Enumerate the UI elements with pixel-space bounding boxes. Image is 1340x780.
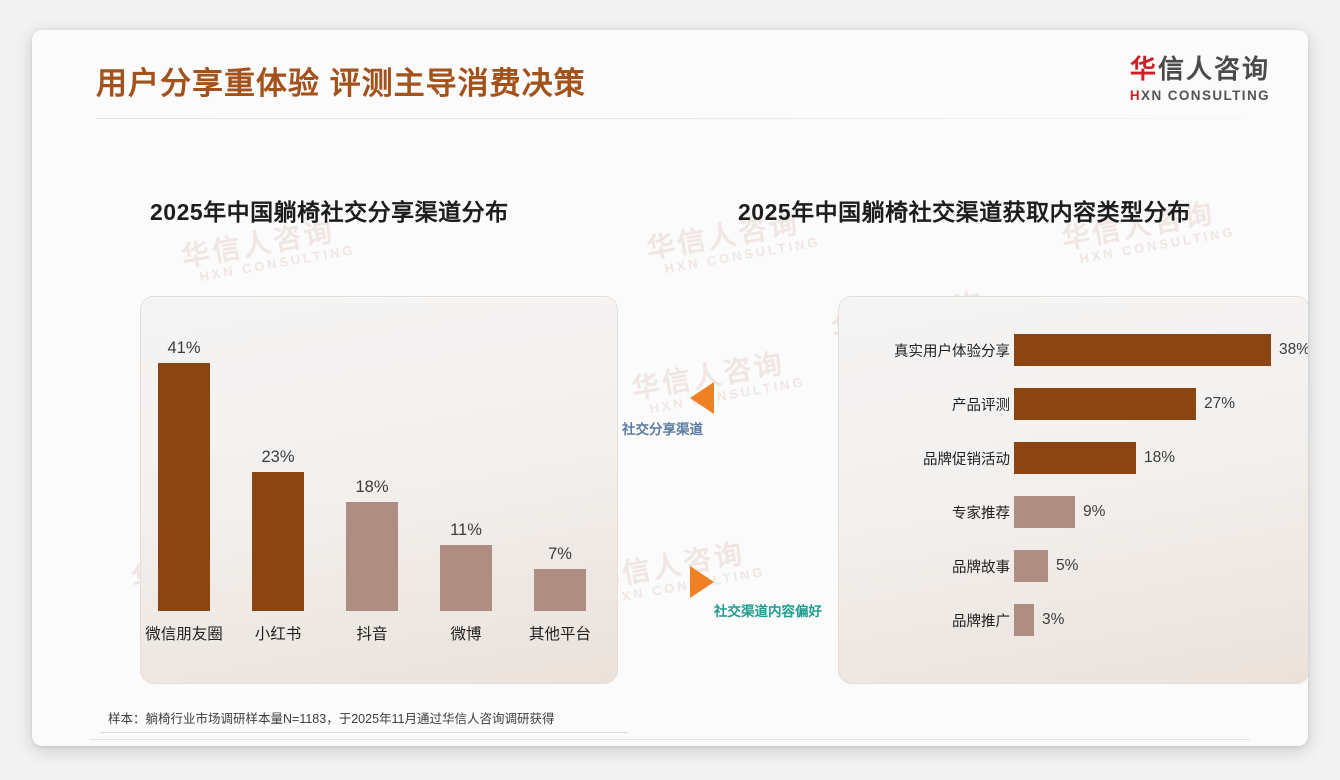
social-share-channel-annotation: 社交分享渠道 — [622, 418, 703, 438]
watermark-en: HXN CONSULTING — [1065, 224, 1237, 269]
footer-divider — [90, 739, 1250, 740]
brand-logo: 华信人咨询 HXN CONSULTING — [1130, 56, 1270, 103]
bar-value-label: 7% — [548, 545, 572, 564]
bar-value-label: 41% — [167, 339, 200, 358]
bar-category-label: 专家推荐 — [952, 502, 1010, 523]
bar-value-label: 27% — [1204, 395, 1235, 413]
bar-group: 11%微博 — [421, 296, 511, 682]
bar-value-label: 3% — [1042, 611, 1064, 629]
logo-en-rest: XN CONSULTING — [1141, 88, 1270, 103]
bar — [1014, 496, 1075, 528]
bar-group: 7%其他平台 — [515, 296, 605, 682]
logo-rest-chars: 信人咨询 — [1158, 54, 1270, 84]
content-preference-annotation: 社交渠道内容偏好 — [714, 600, 822, 620]
right-chart-title: 2025年中国躺椅社交渠道获取内容类型分布 — [738, 193, 1191, 227]
left-arrow-icon — [690, 382, 714, 414]
logo-english-text: HXN CONSULTING — [1130, 89, 1270, 103]
bar-category-label: 品牌推广 — [952, 610, 1010, 631]
bar-row: 真实用户体验分享38% — [838, 334, 1308, 366]
bar-category-label: 品牌故事 — [952, 556, 1010, 577]
bar — [1014, 334, 1271, 366]
sample-footnote: 样本：躺椅行业市场调研样本量N=1183，于2025年11月通过华信人咨询调研获… — [108, 708, 555, 727]
slide-card: 华信人咨询 HXN CONSULTING 华信人咨询 HXN CONSULTIN… — [32, 30, 1308, 746]
bar-value-label: 9% — [1083, 503, 1105, 521]
watermark-en: HXN CONSULTING — [185, 242, 357, 287]
bar-group: 41%微信朋友圈 — [139, 296, 229, 682]
bar-row: 品牌故事5% — [838, 550, 1308, 582]
bar-category-label: 抖音 — [356, 622, 387, 644]
left-chart-title: 2025年中国躺椅社交分享渠道分布 — [150, 193, 509, 227]
watermark-cn: 华信人咨询 — [629, 345, 804, 404]
logo-accent-char: 华 — [1130, 54, 1158, 84]
bar — [346, 502, 398, 611]
logo-chinese-text: 华信人咨询 — [1130, 56, 1270, 82]
bar — [1014, 388, 1196, 420]
bar-group: 23%小红书 — [233, 296, 323, 682]
bar-category-label: 真实用户体验分享 — [894, 340, 1010, 361]
watermark-en: HXN CONSULTING — [635, 374, 807, 419]
right-arrow-icon — [690, 566, 714, 598]
title-divider — [96, 118, 1246, 119]
social-share-channel-bar-chart: 41%微信朋友圈23%小红书18%抖音11%微博7%其他平台 — [140, 296, 616, 682]
bar-category-label: 微信朋友圈 — [145, 622, 223, 644]
bar-category-label: 品牌促销活动 — [923, 448, 1010, 469]
bar-category-label: 产品评测 — [952, 394, 1010, 415]
bar-value-label: 11% — [450, 521, 482, 540]
bar — [1014, 604, 1034, 636]
bar-value-label: 18% — [1144, 449, 1175, 467]
slide-header: 用户分享重体验 评测主导消费决策 华信人咨询 HXN CONSULTING — [32, 30, 1308, 118]
page-title: 用户分享重体验 评测主导消费决策 — [96, 58, 586, 103]
footnote-divider — [100, 732, 628, 733]
bar — [1014, 550, 1048, 582]
content-type-bar-chart: 真实用户体验分享38%产品评测27%品牌促销活动18%专家推荐9%品牌故事5%品… — [838, 296, 1308, 682]
bar-value-label: 5% — [1056, 557, 1078, 575]
bar — [534, 569, 586, 611]
bar — [440, 545, 492, 611]
bar-row: 专家推荐9% — [838, 496, 1308, 528]
bar-category-label: 其他平台 — [529, 622, 591, 644]
bar-row: 品牌促销活动18% — [838, 442, 1308, 474]
bar-value-label: 18% — [355, 478, 388, 497]
bar-value-label: 23% — [261, 448, 294, 467]
bar — [158, 363, 210, 611]
logo-en-accent: H — [1130, 88, 1141, 103]
bar — [1014, 442, 1136, 474]
bar-group: 18%抖音 — [327, 296, 417, 682]
bar-category-label: 微博 — [450, 622, 481, 644]
bar-category-label: 小红书 — [255, 622, 302, 644]
bar-row: 产品评测27% — [838, 388, 1308, 420]
watermark: 华信人咨询 HXN CONSULTING — [629, 345, 806, 419]
bar-row: 品牌推广3% — [838, 604, 1308, 636]
bar — [252, 472, 304, 611]
watermark-en: HXN CONSULTING — [650, 234, 822, 279]
bar-value-label: 38% — [1279, 341, 1308, 359]
